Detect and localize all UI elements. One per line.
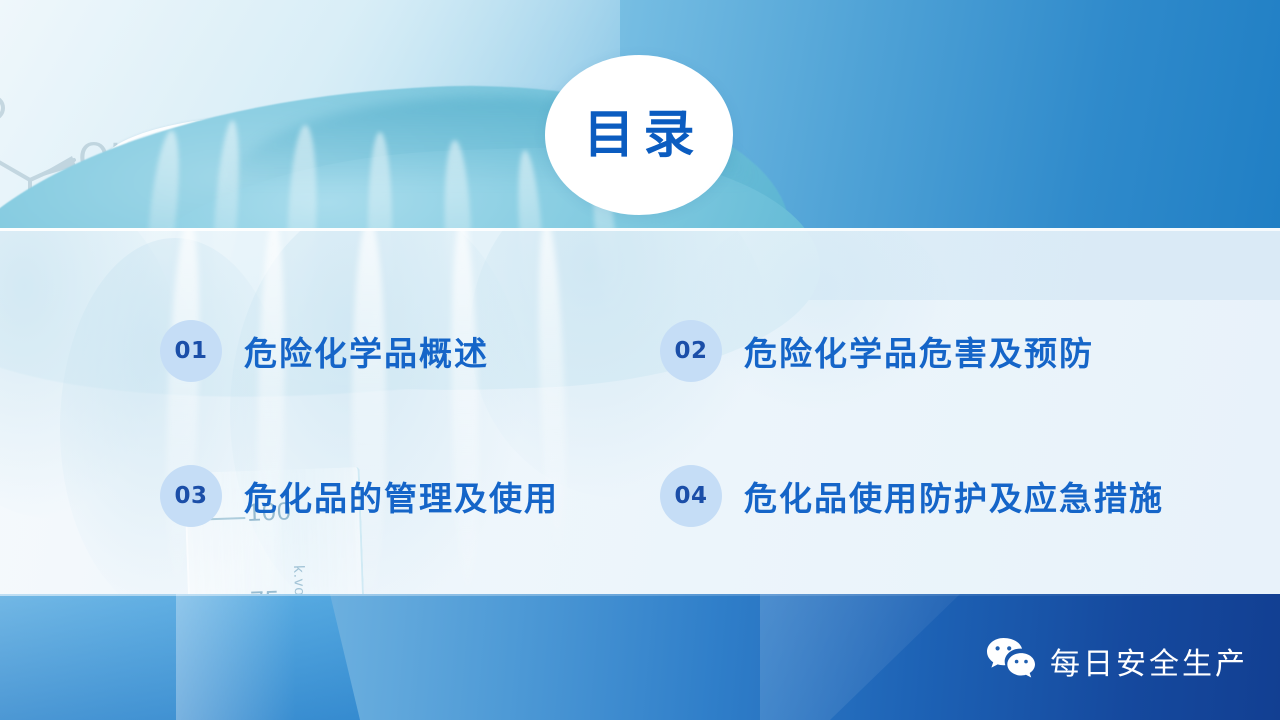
page-title: 目录 <box>574 110 703 161</box>
presentation-slide: OH 100 75 <box>0 0 1280 720</box>
toc-label-01: 危险化学品概述 <box>244 327 489 375</box>
wechat-icon <box>985 636 1037 685</box>
toc-label-04: 危化品使用防护及应急措施 <box>744 472 1164 520</box>
toc-item-04[interactable]: 04 危化品使用防护及应急措施 <box>660 465 1220 527</box>
watermark: 每日安全生产 <box>985 636 1248 685</box>
panel-top-edge <box>0 228 1280 231</box>
toc-number-badge-01: 01 <box>160 320 222 382</box>
title-badge: 目录 <box>545 55 733 215</box>
toc-item-01[interactable]: 01 危险化学品概述 <box>160 320 660 382</box>
toc-item-02[interactable]: 02 危险化学品危害及预防 <box>660 320 1220 382</box>
toc-number-badge-02: 02 <box>660 320 722 382</box>
band-top-highlight <box>0 594 1280 596</box>
toc-number-badge-04: 04 <box>660 465 722 527</box>
beaker-glass-highlight <box>176 594 376 720</box>
toc-number-badge-03: 03 <box>160 465 222 527</box>
toc-item-03[interactable]: 03 危化品的管理及使用 <box>160 465 660 527</box>
table-of-contents: 01 危险化学品概述 02 危险化学品危害及预防 03 危化品的管理及使用 04… <box>0 278 1280 558</box>
watermark-text: 每日安全生产 <box>1050 639 1248 683</box>
toc-label-03: 危化品的管理及使用 <box>244 472 559 520</box>
toc-label-02: 危险化学品危害及预防 <box>744 327 1094 375</box>
